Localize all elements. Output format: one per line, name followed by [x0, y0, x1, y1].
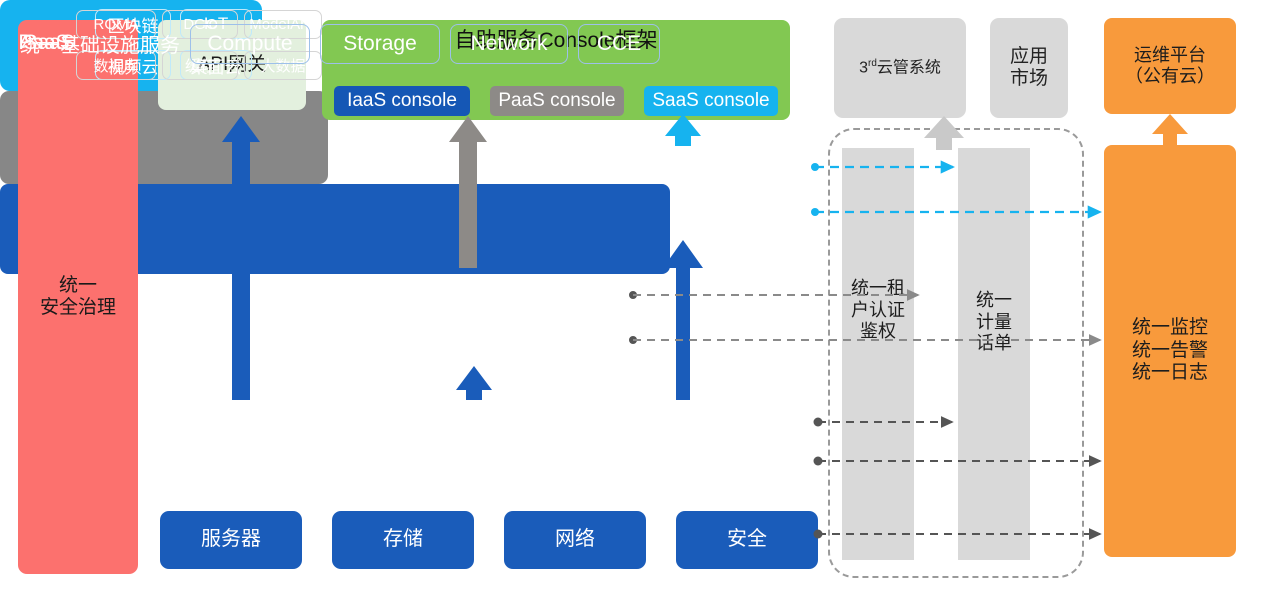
saas-console-label: SaaS console [652, 90, 769, 112]
iaas-console-label: IaaS console [347, 90, 457, 112]
infra-chip-network[interactable]: Network [450, 24, 568, 64]
unified-infrastructure-label: 统一基础设施服务 [14, 29, 186, 58]
infra-chip-storage-label: Storage [343, 32, 417, 56]
ops-platform-label: 运维平台 （公有云） [1125, 45, 1215, 87]
hardware-box-server[interactable]: 服务器 [160, 511, 302, 569]
paas-console-label: PaaS console [498, 90, 615, 112]
unified-billing-label: 统一 计量 话单 [958, 290, 1030, 355]
hardware-box-storage-label: 存储 [383, 528, 423, 552]
app-market-box: 应用 市场 [990, 18, 1068, 118]
unified-tenant-auth-label: 统一租 户认证 鉴权 [842, 278, 914, 343]
arrow-monitor-to-ops-platform [1152, 114, 1188, 145]
architecture-diagram: 统一 安全治理 API网关 自助服务Console框架 IaaS console… [0, 0, 1265, 605]
iaas-console-chip[interactable]: IaaS console [334, 86, 470, 116]
hardware-box-security-label: 安全 [727, 528, 767, 552]
third-party-cloud-management-box: 3rd云管系统 [834, 18, 966, 118]
infra-chip-compute[interactable]: Compute [190, 24, 310, 64]
hardware-box-network-label: 网络 [555, 528, 595, 552]
infra-chip-cce[interactable]: CCE [578, 24, 660, 64]
ops-platform-box: 运维平台 （公有云） [1104, 18, 1236, 114]
ops-monitoring-box: 统一监控 统一告警 统一日志 [1104, 145, 1236, 557]
infra-chip-storage[interactable]: Storage [320, 24, 440, 64]
saas-console-chip[interactable]: SaaS console [644, 86, 778, 116]
unified-security-label: 统一 安全治理 [40, 275, 116, 320]
unified-tenant-auth-column: 统一租 户认证 鉴权 [842, 148, 914, 560]
arrow-infra-to-paas [456, 366, 492, 400]
ops-monitoring-label: 统一监控 统一告警 统一日志 [1132, 317, 1208, 384]
third-party-cloud-label: 3rd云管系统 [859, 58, 941, 78]
unified-billing-column: 统一 计量 话单 [958, 148, 1030, 560]
infra-chip-network-label: Network [470, 32, 547, 56]
app-market-label: 应用 市场 [1010, 46, 1048, 91]
infra-chip-compute-label: Compute [207, 32, 292, 56]
infra-chip-cce-label: CCE [597, 32, 641, 56]
unified-security-panel: 统一 安全治理 [18, 20, 138, 574]
hardware-box-network[interactable]: 网络 [504, 511, 646, 569]
paas-chip-database-label: 数据库 [93, 55, 138, 76]
paas-console-chip[interactable]: PaaS console [490, 86, 624, 116]
hardware-box-server-label: 服务器 [201, 528, 261, 552]
hardware-box-security[interactable]: 安全 [676, 511, 818, 569]
hardware-box-storage[interactable]: 存储 [332, 511, 474, 569]
